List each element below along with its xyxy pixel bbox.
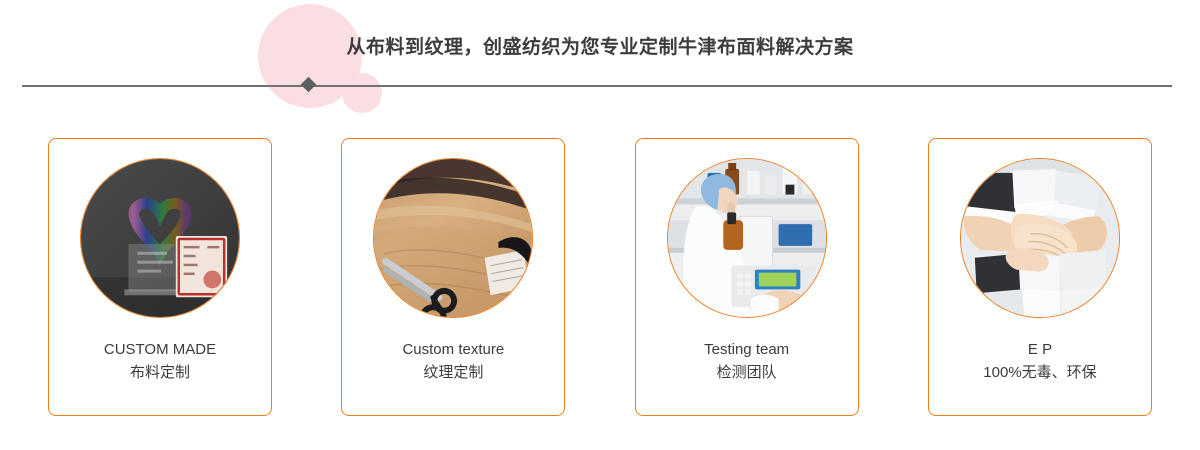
card-caption: Testing team 检测团队 <box>636 339 858 385</box>
page-title: 从布料到纹理，创盛纺织为您专业定制牛津布面料解决方案 <box>0 32 1200 59</box>
card-title-cn: 布料定制 <box>49 361 271 385</box>
fabric-scissors-texture-photo <box>373 158 533 318</box>
card-title-cn: 100%无毒、环保 <box>929 361 1151 385</box>
card-title-cn: 纹理定制 <box>342 361 564 385</box>
feature-card-ep[interactable]: E P 100%无毒、环保 <box>928 138 1152 416</box>
divider-line <box>22 85 1172 87</box>
lab-testing-equipment-photo <box>667 158 827 318</box>
card-title-en: E P <box>929 339 1151 361</box>
feature-card-custom-texture[interactable]: Custom texture 纹理定制 <box>341 138 565 416</box>
feature-card-testing-team[interactable]: Testing team 检测团队 <box>635 138 859 416</box>
card-title-cn: 检测团队 <box>636 361 858 385</box>
feature-card-custom-made[interactable]: CUSTOM MADE 布料定制 <box>48 138 272 416</box>
card-caption: Custom texture 纹理定制 <box>342 339 564 385</box>
feature-cards-row: CUSTOM MADE 布料定制 <box>48 138 1152 418</box>
card-title-en: Testing team <box>636 339 858 361</box>
card-caption: CUSTOM MADE 布料定制 <box>49 339 271 385</box>
decorative-circle-small <box>342 73 382 113</box>
card-title-en: Custom texture <box>342 339 564 361</box>
header-banner: 从布料到纹理，创盛纺织为您专业定制牛津布面料解决方案 <box>0 0 1200 112</box>
award-trophy-certificate-photo <box>80 158 240 318</box>
teamwork-stacked-hands-photo <box>960 158 1120 318</box>
card-title-en: CUSTOM MADE <box>49 339 271 361</box>
card-caption: E P 100%无毒、环保 <box>929 339 1151 385</box>
